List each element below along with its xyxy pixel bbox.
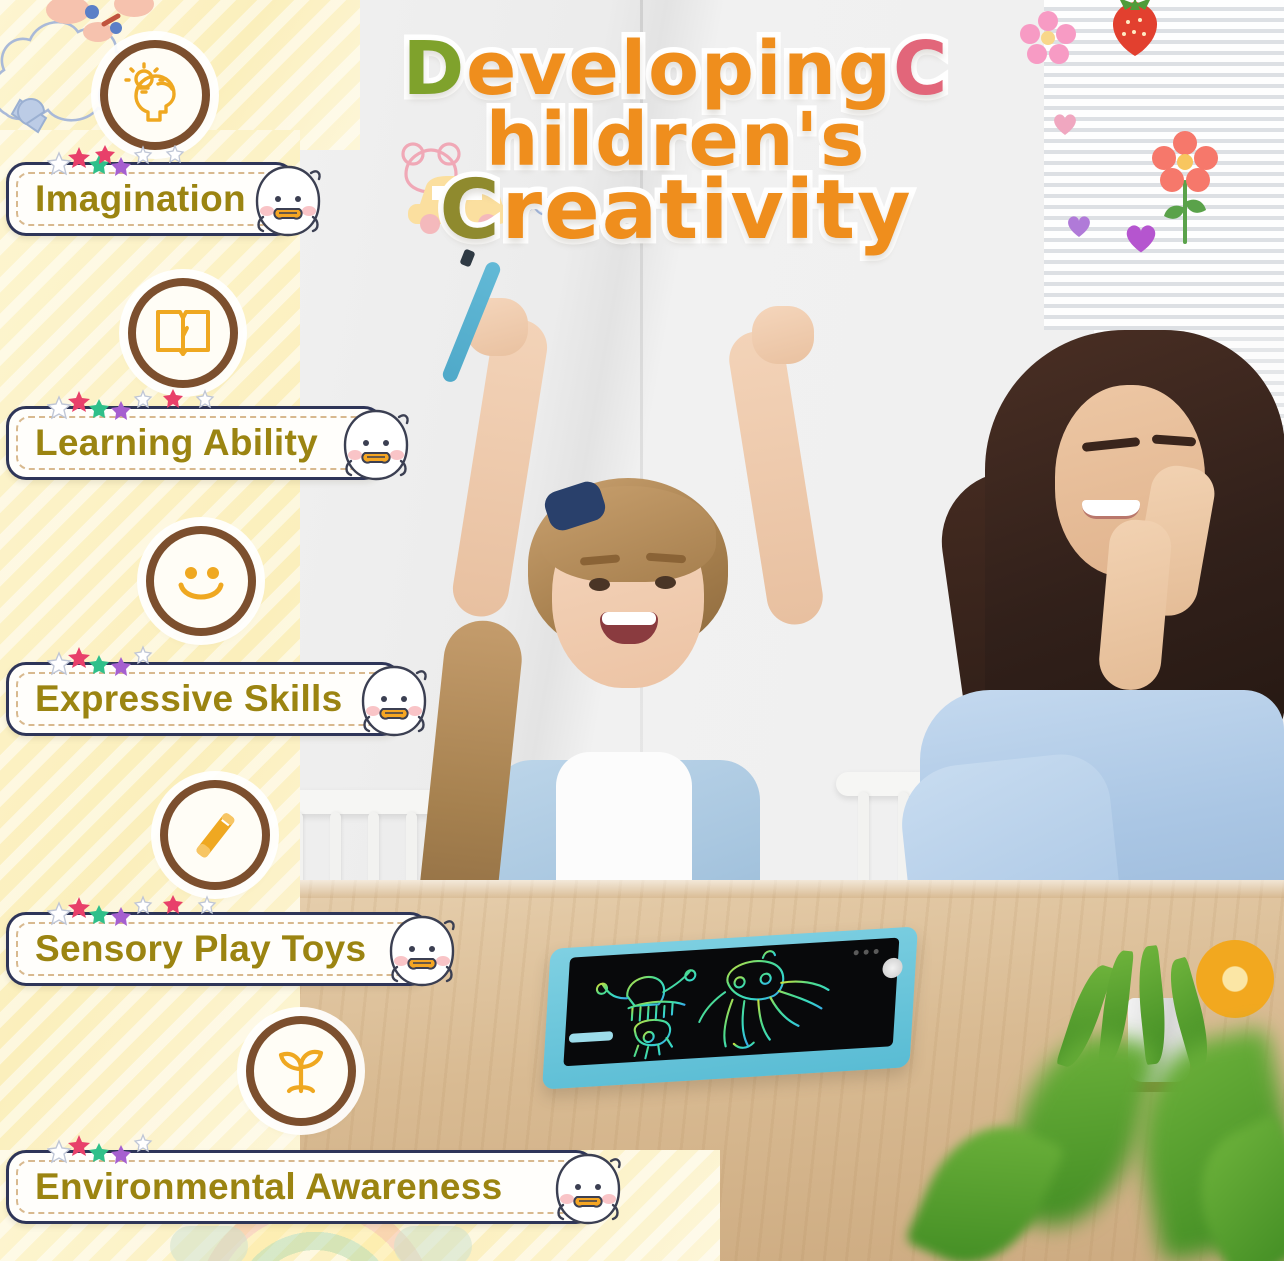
duck-mascot-icon [249,161,327,241]
title-word-eveloping: eveloping [466,34,893,105]
badge-imagination [100,40,210,150]
tablet-screen [563,938,899,1067]
smiley-face-icon [169,549,233,613]
title-letter-C: C [893,34,949,105]
duck-mascot-icon [383,911,461,991]
title-word-reativity: reativity [502,172,913,251]
feature-pill-expressive[interactable]: Expressive Skills [6,662,402,736]
feature-pill-imagination[interactable]: Imagination [6,162,296,236]
feature-label-sensory: Sensory Play Toys [9,928,366,970]
title-letter-D: D [403,34,466,105]
white-chair-left [272,790,448,814]
title-letter-C2: C [439,172,501,251]
head-lightbulb-icon [122,62,188,128]
girl-eye-right [655,576,676,589]
tablet-erase-button[interactable] [882,957,903,978]
feature-pill-environmental[interactable]: Environmental Awareness [6,1150,596,1224]
feature-pill-sensory[interactable]: Sensory Play Toys [6,912,430,986]
badge-environmental [246,1016,356,1126]
girl-right-fist [752,306,814,364]
badge-learning [128,278,238,388]
duck-mascot-icon [355,661,433,741]
feature-pill-learning[interactable]: Learning Ability [6,406,384,480]
crayon-icon [184,804,246,866]
window-blinds-icon [1044,0,1284,330]
orange-slice-icon [1196,940,1274,1018]
girl-teeth [602,612,656,625]
duck-mascot-icon [549,1149,627,1229]
feature-label-imagination: Imagination [9,178,246,220]
badge-expressive [146,526,256,636]
title-line-1: Developing Children's [296,34,1056,176]
duck-mascot-icon [337,405,415,485]
page-title: Developing Children's Creativity [296,34,1056,251]
poster-root: Developing Children's Creativity [0,0,1284,1261]
lcd-writing-tablet[interactable] [542,926,918,1089]
feature-label-environmental: Environmental Awareness [9,1166,503,1208]
badge-sensory [160,780,270,890]
feature-label-expressive: Expressive Skills [9,678,342,720]
girl-eye-left [589,578,610,591]
tablet-drawing-sea-creatures [563,938,899,1067]
title-line-2: Creativity [296,172,1056,251]
woman-smile [1082,500,1140,519]
feature-label-learning: Learning Ability [9,422,318,464]
open-book-icon [152,302,214,364]
sprout-icon [269,1039,333,1103]
